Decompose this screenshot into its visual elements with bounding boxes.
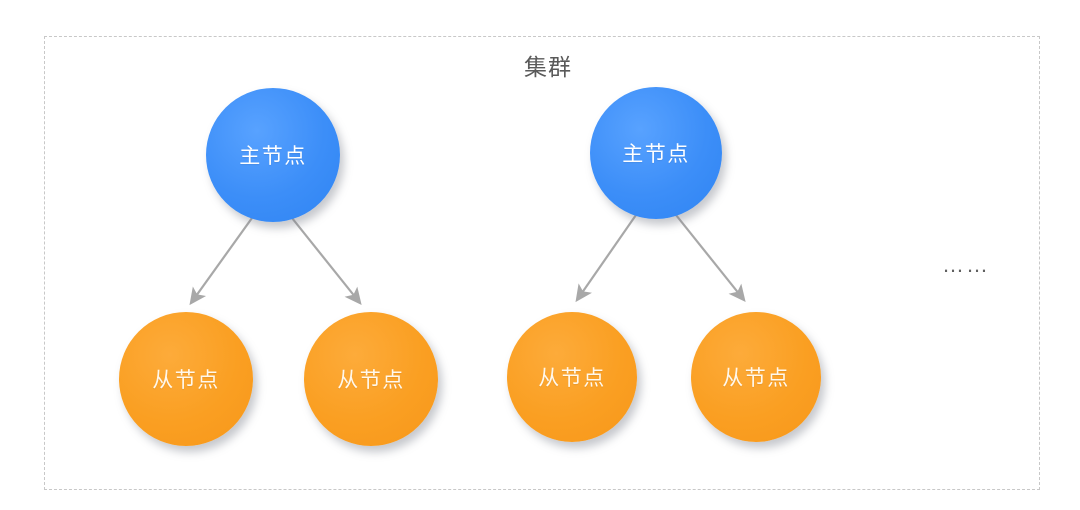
node-slave-2[interactable]: 从节点 bbox=[304, 312, 438, 446]
node-label: 主节点 bbox=[622, 138, 690, 168]
node-label: 从节点 bbox=[722, 362, 790, 392]
node-master-2[interactable]: 主节点 bbox=[590, 87, 722, 219]
more-clusters-ellipsis: …… bbox=[930, 252, 1002, 278]
node-label: 主节点 bbox=[239, 140, 307, 170]
node-label: 从节点 bbox=[152, 364, 220, 394]
node-slave-3[interactable]: 从节点 bbox=[507, 312, 637, 442]
node-slave-1[interactable]: 从节点 bbox=[119, 312, 253, 446]
cluster-title: 集群 bbox=[513, 52, 583, 82]
node-slave-4[interactable]: 从节点 bbox=[691, 312, 821, 442]
node-label: 从节点 bbox=[538, 362, 606, 392]
diagram-canvas: 集群 主节点 主节点 从节点 从节点 从节点 从节点 bbox=[0, 0, 1080, 510]
node-master-1[interactable]: 主节点 bbox=[206, 88, 340, 222]
node-label: 从节点 bbox=[337, 364, 405, 394]
